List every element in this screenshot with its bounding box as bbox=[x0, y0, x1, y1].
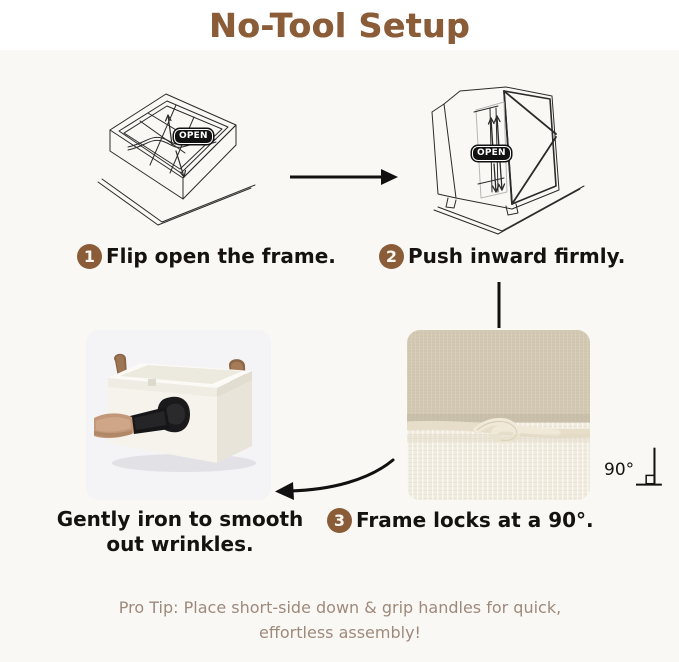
step-2-caption-label: Push inward firmly. bbox=[408, 245, 625, 268]
arrow-step1-to-step2 bbox=[288, 165, 400, 189]
step-2-number-badge: 2 bbox=[379, 244, 404, 269]
arrow-step2-to-step3 bbox=[494, 282, 504, 328]
right-angle-icon bbox=[636, 446, 662, 490]
step-4-caption-line2: out wrinkles. bbox=[40, 532, 320, 557]
angle-indicator-label: 90° bbox=[604, 462, 636, 490]
step-1-caption-label: Flip open the frame. bbox=[106, 245, 336, 268]
flat-packed-frame-lineart bbox=[88, 85, 258, 235]
step-1-caption: 1 Flip open the frame. bbox=[77, 244, 336, 269]
arrow-step3-to-step4 bbox=[265, 452, 400, 500]
step-3-photo bbox=[407, 330, 590, 500]
curved-left-arrow-icon bbox=[265, 452, 400, 500]
steam-iron-basket-photo bbox=[86, 330, 271, 500]
step-1-number-badge: 1 bbox=[77, 244, 102, 269]
pro-tip-line2: effortless assembly! bbox=[60, 621, 620, 646]
open-badge-step2: OPEN bbox=[472, 146, 511, 161]
pro-tip-line1: Pro Tip: Place short-side down & grip ha… bbox=[60, 596, 620, 621]
pro-tip: Pro Tip: Place short-side down & grip ha… bbox=[60, 596, 620, 646]
step-2-illustration: OPEN bbox=[408, 82, 588, 237]
step-3-number-badge: 3 bbox=[327, 508, 352, 533]
frame-corner-closeup-photo bbox=[407, 330, 590, 500]
down-line-icon bbox=[494, 282, 504, 328]
step-3-caption-label: Frame locks at a 90°. bbox=[356, 509, 594, 532]
step-4-caption-line1: Gently iron to smooth bbox=[40, 507, 320, 532]
header-band: No-Tool Setup bbox=[0, 0, 679, 50]
step-4-photo bbox=[86, 330, 271, 500]
page-title: No-Tool Setup bbox=[209, 9, 470, 42]
step-4-caption: Gently iron to smooth out wrinkles. bbox=[40, 507, 320, 557]
step-1-illustration: OPEN bbox=[88, 85, 258, 235]
right-arrow-icon bbox=[288, 165, 400, 189]
step-2-caption: 2 Push inward firmly. bbox=[379, 244, 625, 269]
open-badge-step1: OPEN bbox=[174, 129, 213, 144]
step-3-caption: 3 Frame locks at a 90°. bbox=[327, 508, 594, 533]
angle-indicator: 90° bbox=[604, 446, 662, 490]
